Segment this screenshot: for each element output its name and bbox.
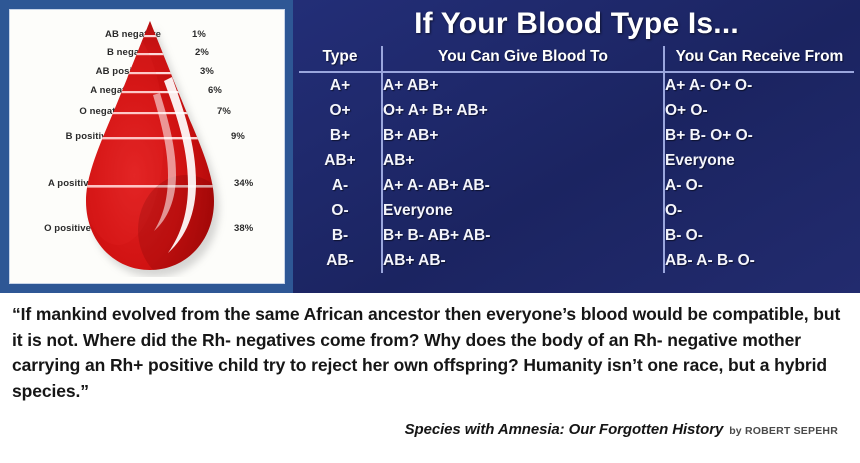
- table-row: A- A+ A- AB+ AB- A- O-: [299, 173, 854, 198]
- table-row: O+ O+ A+ B+ AB+ O+ O-: [299, 98, 854, 123]
- top-section: AB negative B negative AB positive A neg…: [0, 0, 860, 293]
- cell-receive-from: A+ A- O+ O-: [664, 72, 854, 98]
- segment-divider: [68, 35, 233, 37]
- cell-type: A+: [299, 72, 382, 98]
- cell-receive-from: Everyone: [664, 148, 854, 173]
- cell-type: AB+: [299, 148, 382, 173]
- cell-receive-from: O+ O-: [664, 98, 854, 123]
- blood-drop-svg: [68, 15, 233, 277]
- table-row: A+ A+ AB+ A+ A- O+ O-: [299, 72, 854, 98]
- cell-give-to: AB+ AB-: [382, 248, 664, 273]
- cell-type: B-: [299, 223, 382, 248]
- page-title: If Your Blood Type Is...: [299, 4, 854, 44]
- cell-give-to: Everyone: [382, 198, 664, 223]
- cell-give-to: AB+: [382, 148, 664, 173]
- cell-type: O+: [299, 98, 382, 123]
- cell-type: B+: [299, 123, 382, 148]
- cell-give-to: A+ AB+: [382, 72, 664, 98]
- chart-value-b-positive: 9%: [231, 131, 245, 142]
- cell-type: A-: [299, 173, 382, 198]
- quote-text: “If mankind evolved from the same Africa…: [0, 293, 860, 404]
- cell-receive-from: B- O-: [664, 223, 854, 248]
- cell-receive-from: AB- A- B- O-: [664, 248, 854, 273]
- cell-receive-from: A- O-: [664, 173, 854, 198]
- chart-canvas: AB negative B negative AB positive A neg…: [9, 9, 285, 284]
- cell-type: O-: [299, 198, 382, 223]
- column-header-type: Type: [299, 46, 382, 72]
- author-name: by ROBERT SEPEHR: [729, 425, 838, 437]
- blood-compatibility-panel: If Your Blood Type Is... Type You Can Gi…: [293, 0, 860, 293]
- cell-give-to: B+ AB+: [382, 123, 664, 148]
- table-row: O- Everyone O-: [299, 198, 854, 223]
- blood-drop-graphic: [68, 15, 233, 277]
- table-row: B- B+ B- AB+ AB- B- O-: [299, 223, 854, 248]
- segment-divider: [68, 53, 233, 55]
- cell-give-to: O+ A+ B+ AB+: [382, 98, 664, 123]
- column-header-receive-from: You Can Receive From: [664, 46, 854, 72]
- column-header-give-to: You Can Give Blood To: [382, 46, 664, 72]
- blood-compatibility-table: Type You Can Give Blood To You Can Recei…: [299, 46, 854, 273]
- cell-receive-from: B+ B- O+ O-: [664, 123, 854, 148]
- chart-value-a-positive: 34%: [234, 178, 253, 189]
- cell-type: AB-: [299, 248, 382, 273]
- table-row: AB+ AB+ Everyone: [299, 148, 854, 173]
- book-title: Species with Amnesia: Our Forgotten Hist…: [405, 421, 724, 438]
- table-header-row: Type You Can Give Blood To You Can Recei…: [299, 46, 854, 72]
- attribution: Species with Amnesia: Our Forgotten Hist…: [405, 421, 838, 439]
- table-row: AB- AB+ AB- AB- A- B- O-: [299, 248, 854, 273]
- cell-give-to: B+ B- AB+ AB-: [382, 223, 664, 248]
- chart-value-o-positive: 38%: [234, 223, 253, 234]
- quote-section: “If mankind evolved from the same Africa…: [0, 293, 860, 463]
- blood-type-chart-panel: AB negative B negative AB positive A neg…: [0, 0, 293, 293]
- cell-give-to: A+ A- AB+ AB-: [382, 173, 664, 198]
- cell-receive-from: O-: [664, 198, 854, 223]
- table-row: B+ B+ AB+ B+ B- O+ O-: [299, 123, 854, 148]
